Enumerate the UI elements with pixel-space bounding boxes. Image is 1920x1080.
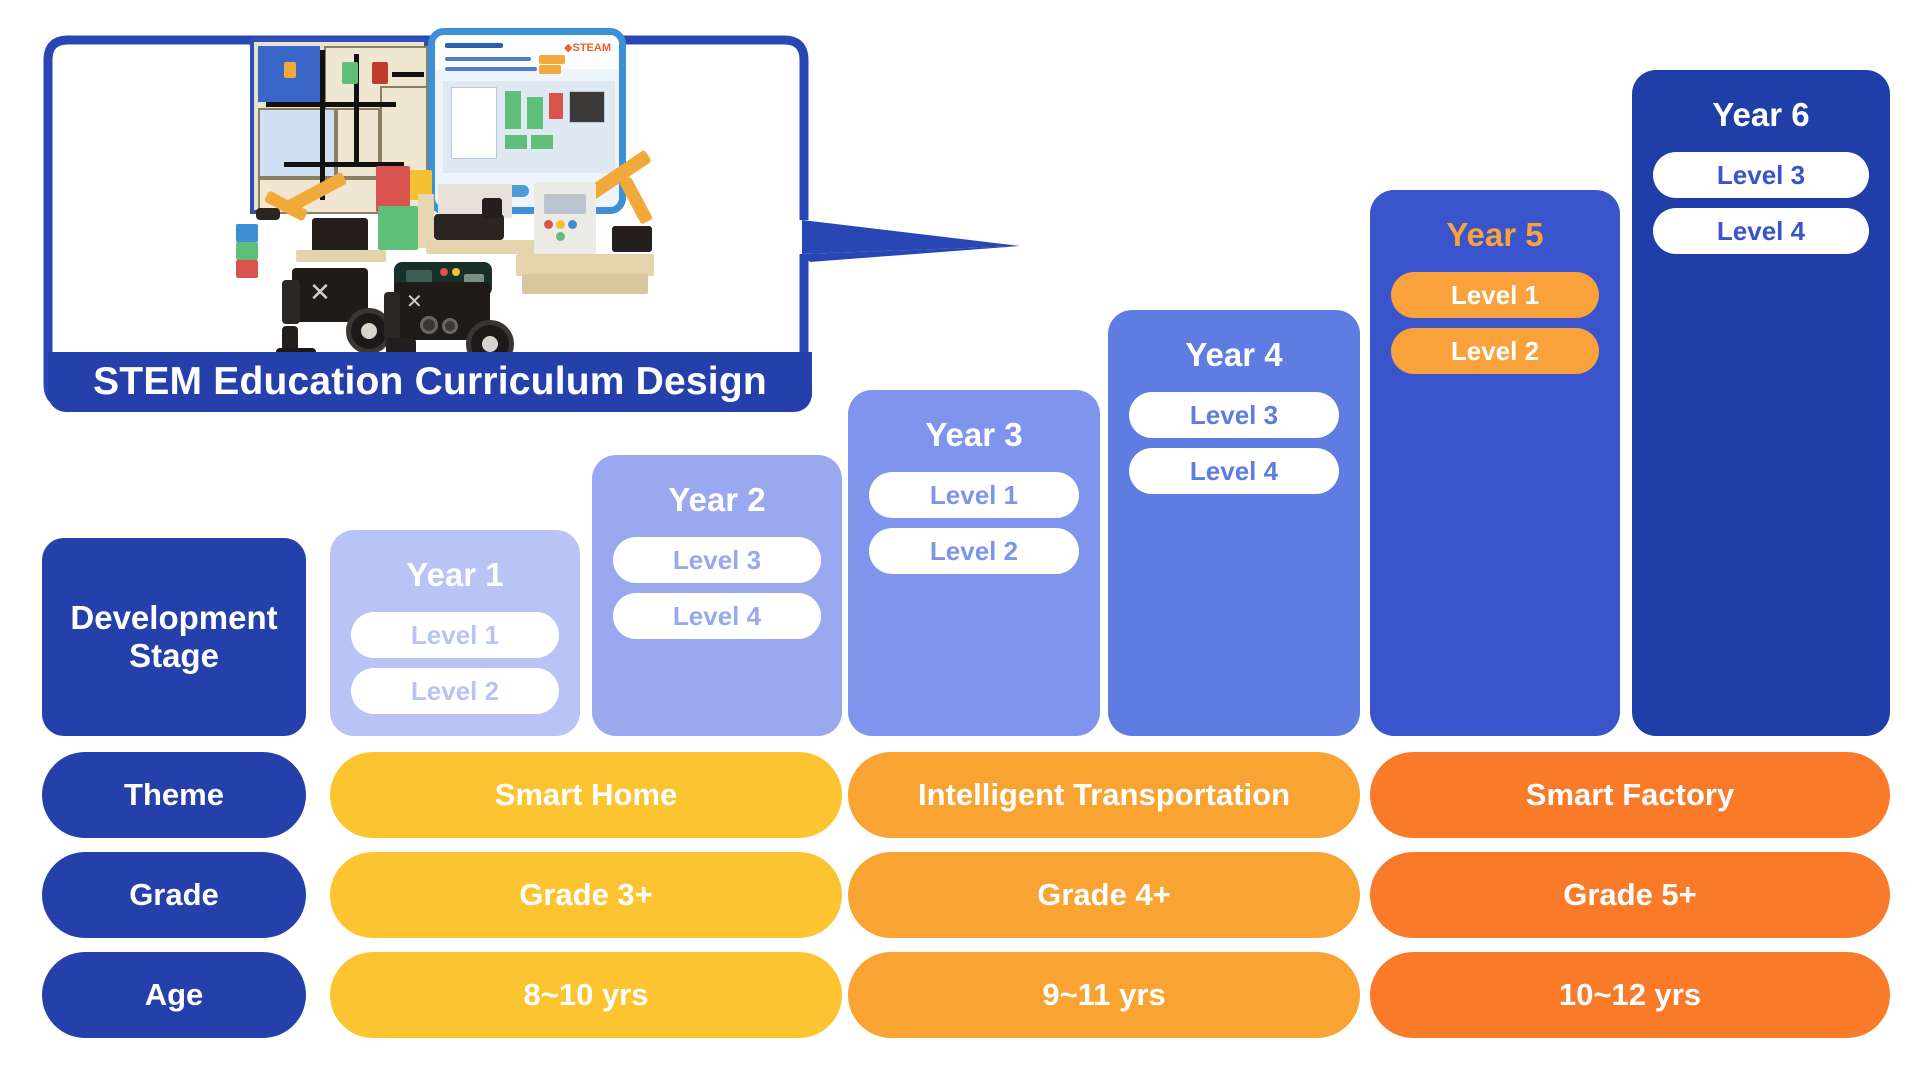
row-label-grade: Grade [42,852,306,938]
year-title: Year 3 [925,416,1022,454]
robot-arm-left-icon [256,180,376,270]
steam-logo-icon: ◆STEAM [564,41,611,54]
callout-title: STEM Education Curriculum Design [48,352,812,412]
level-pill-2[interactable]: Level 2 [351,668,559,714]
year-title: Year 2 [668,481,765,519]
year-column-4[interactable]: Year 4Level 3Level 4 [1108,310,1360,736]
theme-cell-group-1[interactable]: Smart Home [330,752,842,838]
stem-robotics-kit-photo: ◆STEAM [228,28,648,358]
year-title: Year 5 [1446,216,1543,254]
year-column-2[interactable]: Year 2Level 3Level 4 [592,455,842,736]
theme-cell-group-2[interactable]: Intelligent Transportation [848,752,1360,838]
year-column-3[interactable]: Year 3Level 1Level 2 [848,390,1100,736]
level-pill-1[interactable]: Level 1 [351,612,559,658]
year-title: Year 4 [1185,336,1282,374]
callout-bubble: ◆STEAM [48,40,812,412]
level-pill-1[interactable]: Level 1 [869,472,1079,518]
age-cell-group-1[interactable]: 8~10 yrs [330,952,842,1038]
year-column-1[interactable]: Year 1Level 1Level 2 [330,530,580,736]
age-cell-group-3[interactable]: 10~12 yrs [1370,952,1890,1038]
year-title: Year 6 [1712,96,1809,134]
stem-curriculum-infographic: ◆STEAM [0,0,1920,1080]
grade-cell-group-1[interactable]: Grade 3+ [330,852,842,938]
callout-body: ◆STEAM [48,40,812,412]
row-label-development-stage: Development Stage [42,538,306,736]
year-title: Year 1 [406,556,503,594]
year-column-5[interactable]: Year 5Level 1Level 2 [1370,190,1620,736]
level-pill-1[interactable]: Level 3 [1653,152,1869,198]
level-pill-2[interactable]: Level 2 [1391,328,1599,374]
level-pill-1[interactable]: Level 1 [1391,272,1599,318]
control-station-icon [516,168,666,298]
level-pill-2[interactable]: Level 4 [613,593,821,639]
grade-cell-group-3[interactable]: Grade 5+ [1370,852,1890,938]
grade-cell-group-2[interactable]: Grade 4+ [848,852,1360,938]
row-label-age: Age [42,952,306,1038]
theme-cell-group-3[interactable]: Smart Factory [1370,752,1890,838]
level-pill-1[interactable]: Level 3 [613,537,821,583]
year-column-6[interactable]: Year 6Level 3Level 4 [1632,70,1890,736]
level-pill-1[interactable]: Level 3 [1129,392,1339,438]
age-cell-group-2[interactable]: 9~11 yrs [848,952,1360,1038]
level-pill-2[interactable]: Level 4 [1129,448,1339,494]
level-pill-2[interactable]: Level 2 [869,528,1079,574]
row-label-theme: Theme [42,752,306,838]
level-pill-2[interactable]: Level 4 [1653,208,1869,254]
